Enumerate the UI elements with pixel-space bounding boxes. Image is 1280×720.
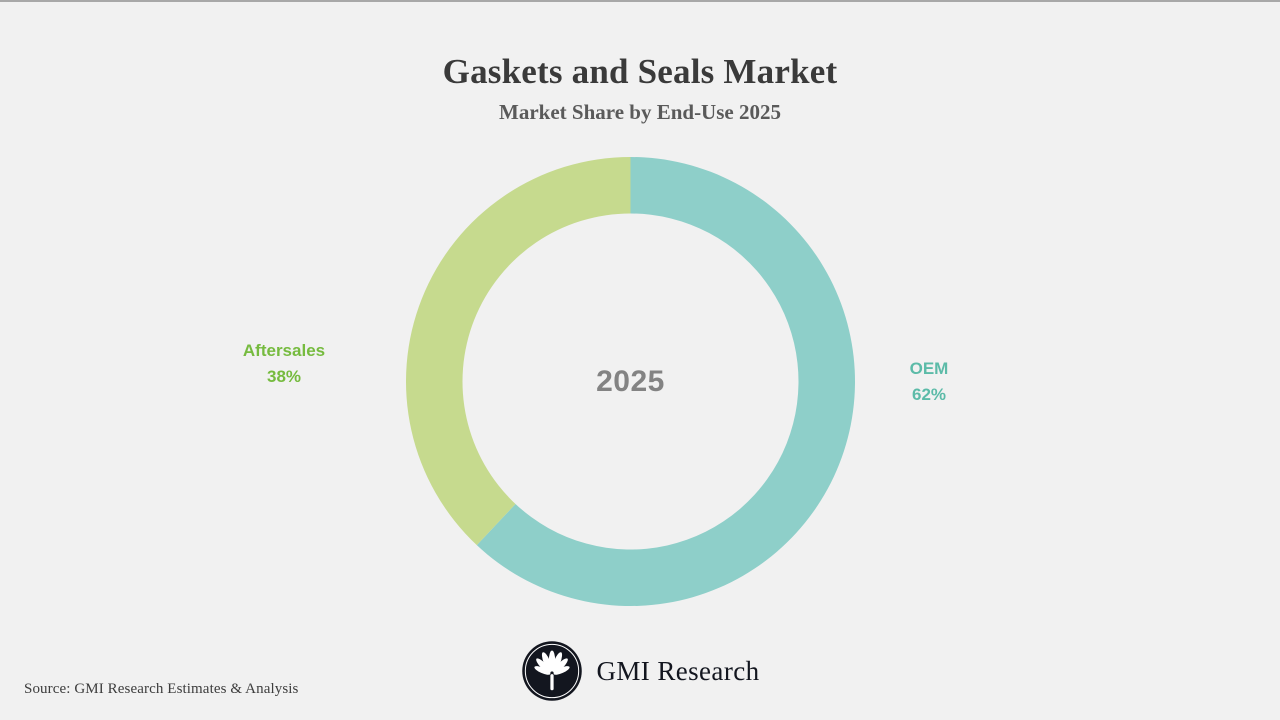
gmi-palm-fan-logo-icon [521,640,583,702]
callout-oem: OEM 62% [854,356,1004,408]
donut-slice-group [406,157,855,606]
callout-aftersales-label: Aftersales [184,338,384,364]
chart-canvas: Gaskets and Seals Market Market Share by… [0,0,1280,720]
donut-chart: 2025 [406,157,855,606]
page-subtitle: Market Share by End-Use 2025 [0,98,1280,126]
brand-logo-text: GMI Research [597,656,760,687]
source-note: Source: GMI Research Estimates & Analysi… [24,681,298,698]
page-title: Gaskets and Seals Market [0,50,1280,94]
callout-oem-label: OEM [854,356,1004,382]
title-block: Gaskets and Seals Market Market Share by… [0,50,1280,126]
callout-aftersales: Aftersales 38% [184,338,384,390]
callout-aftersales-value: 38% [184,364,384,390]
callout-oem-value: 62% [854,382,1004,408]
donut-slice-aftersales[interactable] [406,157,631,545]
donut-svg [406,157,855,606]
